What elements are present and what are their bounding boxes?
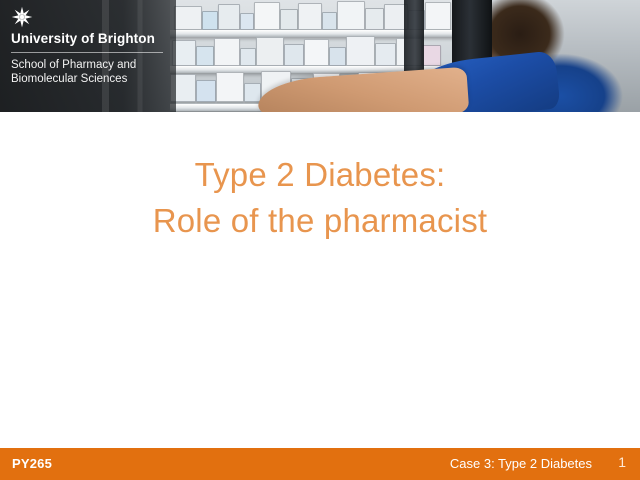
medicine-box [218, 4, 240, 30]
university-name: University of Brighton [11, 31, 155, 46]
university-branding-panel: University of Brighton School of Pharmac… [0, 0, 176, 112]
medicine-box [284, 44, 304, 66]
medicine-box [298, 3, 322, 30]
medicine-box [202, 11, 218, 30]
case-label: Case 3: Type 2 Diabetes [450, 456, 592, 471]
medicine-box [196, 46, 214, 66]
title-line-1: Type 2 Diabetes: [0, 152, 640, 198]
school-name: School of Pharmacy and Biomolecular Scie… [11, 58, 171, 86]
medicine-box [337, 1, 365, 30]
page-number: 1 [618, 454, 626, 470]
medicine-box [240, 13, 254, 30]
medicine-box [322, 12, 337, 30]
medicine-box [244, 83, 261, 102]
medicine-box-row [170, 36, 470, 66]
medicine-box [365, 8, 384, 30]
medicine-box [174, 6, 202, 30]
medicine-box-row [170, 0, 470, 30]
medicine-box [329, 47, 346, 66]
brighton-star-icon [11, 6, 33, 28]
medicine-box [254, 2, 280, 30]
medicine-box [214, 38, 240, 66]
medicine-box [346, 36, 375, 66]
medicine-box [304, 39, 329, 66]
medicine-box [425, 2, 451, 30]
medicine-box [216, 72, 244, 102]
medicine-box [422, 45, 441, 66]
title-line-2: Role of the pharmacist [0, 198, 640, 244]
pharmacy-photo-banner: University of Brighton School of Pharmac… [0, 0, 640, 112]
school-name-line-2: Biomolecular Sciences [11, 73, 127, 85]
medicine-box [240, 48, 256, 66]
medicine-box [256, 37, 284, 66]
module-code: PY265 [12, 456, 52, 471]
slide-canvas: University of Brighton School of Pharmac… [0, 0, 640, 480]
medicine-box [280, 9, 298, 30]
school-name-line-1: School of Pharmacy and [11, 59, 136, 71]
medicine-box [375, 43, 396, 66]
medicine-box [196, 80, 216, 102]
slide-footer: PY265 Case 3: Type 2 Diabetes 1 [0, 448, 640, 480]
branding-divider [11, 52, 163, 53]
slide-title: Type 2 Diabetes: Role of the pharmacist [0, 152, 640, 244]
